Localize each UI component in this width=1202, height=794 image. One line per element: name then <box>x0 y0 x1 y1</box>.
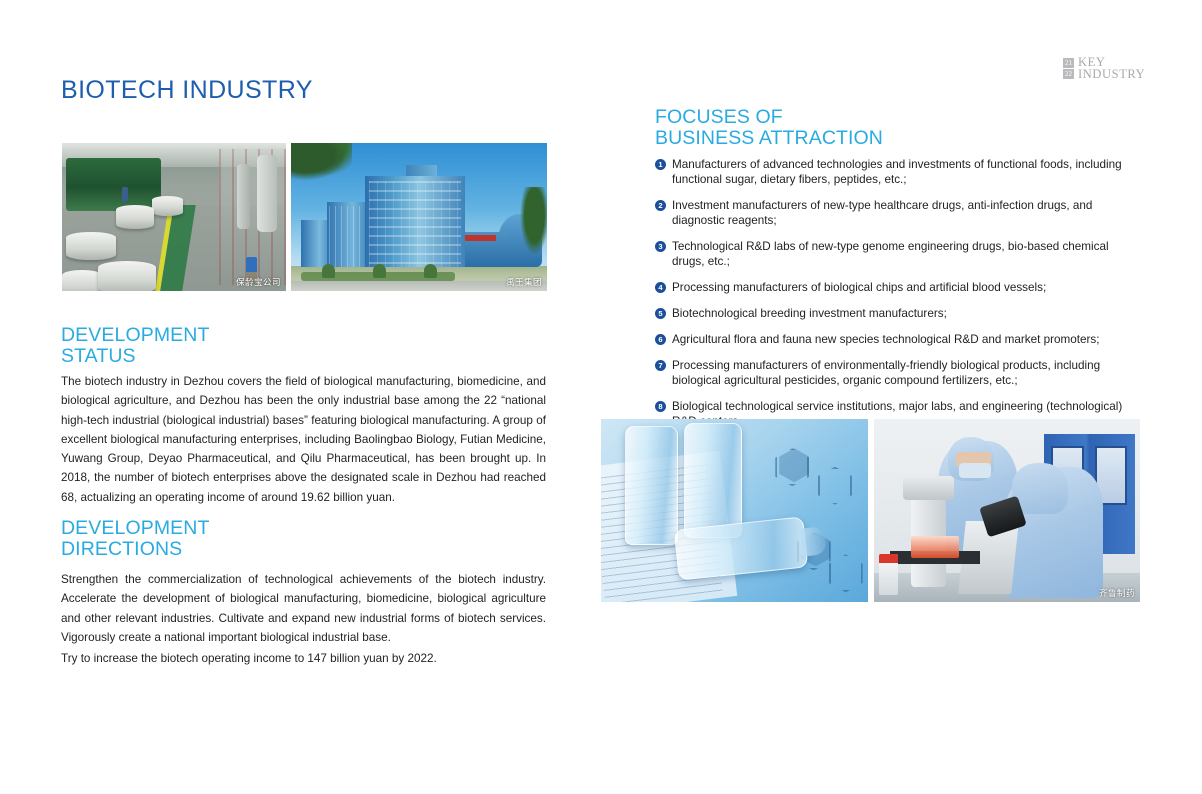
building-red-sign <box>465 235 496 241</box>
logo-wordmark: KEY INDUSTRY <box>1078 57 1145 80</box>
heading-development-directions-line1: DEVELOPMENT <box>61 517 209 539</box>
focus-item-text: Processing manufacturers of biological c… <box>672 280 1143 295</box>
paragraph-development-status: The biotech industry in Dezhou covers th… <box>61 372 546 507</box>
focus-item-text: Biotechnological breeding investment man… <box>672 306 1143 321</box>
factory-column-tank-a <box>257 155 277 232</box>
factory-vat <box>98 261 156 291</box>
vial-upright-left <box>625 426 678 545</box>
factory-vat <box>62 270 102 291</box>
focus-item: 4Processing manufacturers of biological … <box>655 280 1143 295</box>
key-industry-logo: 21 22 KEY INDUSTRY <box>1063 57 1145 80</box>
focus-item: 6Agricultural flora and fauna new specie… <box>655 332 1143 347</box>
factory-green-tanks <box>66 158 160 211</box>
heading-development-status: DEVELOPMENT STATUS <box>61 325 209 366</box>
focus-item-text: Manufacturers of advanced technologies a… <box>672 157 1143 188</box>
vial-upright-right <box>684 423 742 538</box>
logo-number-blocks: 21 22 <box>1063 58 1074 79</box>
focus-item: 2Investment manufacturers of new-type he… <box>655 198 1143 229</box>
heading-development-directions: DEVELOPMENT DIRECTIONS <box>61 518 209 559</box>
heading-development-directions-line2: DIRECTIONS <box>61 539 209 560</box>
focus-item-text: Technological R&D labs of new-type genom… <box>672 239 1143 270</box>
logo-word-industry: INDUSTRY <box>1078 69 1145 81</box>
focus-item-number-badge: 5 <box>655 308 666 319</box>
focus-item-number-badge: 3 <box>655 241 666 252</box>
focus-item: 3Technological R&D labs of new-type geno… <box>655 239 1143 270</box>
photo-caption-qilu: 齐鲁制药 <box>1099 587 1135 599</box>
paragraph-development-target: Try to increase the biotech operating in… <box>61 649 546 668</box>
focus-item-number-badge: 8 <box>655 401 666 412</box>
focus-item-text: Agricultural flora and fauna new species… <box>672 332 1143 347</box>
factory-vat <box>66 232 115 260</box>
logo-number-bottom: 22 <box>1063 69 1074 79</box>
factory-worker <box>122 187 128 202</box>
microscope-head <box>903 476 954 500</box>
culture-dish <box>911 536 959 558</box>
lab-worker-mask <box>959 463 991 478</box>
focus-item-number-badge: 2 <box>655 200 666 211</box>
focus-item: 7Processing manufacturers of environment… <box>655 358 1143 389</box>
focus-item-number-badge: 6 <box>655 334 666 345</box>
building-shrub <box>373 264 386 277</box>
photo-lab-vials <box>601 419 868 602</box>
photo-qilu-pharmaceutical-lab: 齐鲁制药 <box>874 419 1140 602</box>
heading-focuses-of-business-attraction: FOCUSES OF BUSINESS ATTRACTION <box>655 107 883 148</box>
building-shrub <box>424 264 437 277</box>
lab-spray-bottle <box>879 554 898 594</box>
focus-item-text: Investment manufacturers of new-type hea… <box>672 198 1143 229</box>
building-tree-top-left <box>291 143 352 184</box>
factory-vat <box>116 205 154 229</box>
photo-caption-baolingbao: 保龄宝公司 <box>236 276 281 288</box>
focus-item: 1Manufacturers of advanced technologies … <box>655 157 1143 188</box>
focus-item-number-badge: 4 <box>655 282 666 293</box>
building-tree-right <box>519 187 547 258</box>
logo-number-top: 21 <box>1063 58 1074 68</box>
building-shrub <box>322 264 335 277</box>
photo-baolingbao-factory: 保龄宝公司 <box>62 143 286 291</box>
focus-item: 5Biotechnological breeding investment ma… <box>655 306 1143 321</box>
building-tower-main <box>365 176 465 268</box>
focus-item-number-badge: 1 <box>655 159 666 170</box>
heading-development-status-line1: DEVELOPMENT <box>61 324 209 346</box>
factory-vat <box>152 196 183 215</box>
focus-item-number-badge: 7 <box>655 360 666 371</box>
paragraph-development-directions: Strengthen the commercialization of tech… <box>61 570 546 647</box>
focuses-list: 1Manufacturers of advanced technologies … <box>655 157 1143 440</box>
building-tower-mid <box>327 202 371 267</box>
focus-item-text: Processing manufacturers of environmenta… <box>672 358 1143 389</box>
page-title: BIOTECH INDUSTRY <box>61 76 313 105</box>
photo-caption-yuwang: 禹王集团 <box>506 276 542 288</box>
heading-development-status-line2: STATUS <box>61 346 209 367</box>
heading-focuses-line2: BUSINESS ATTRACTION <box>655 128 883 149</box>
photo-yuwang-group-building: 禹王集团 <box>291 143 547 291</box>
factory-column-tank-b <box>237 164 250 229</box>
heading-focuses-line1: FOCUSES OF <box>655 106 783 128</box>
